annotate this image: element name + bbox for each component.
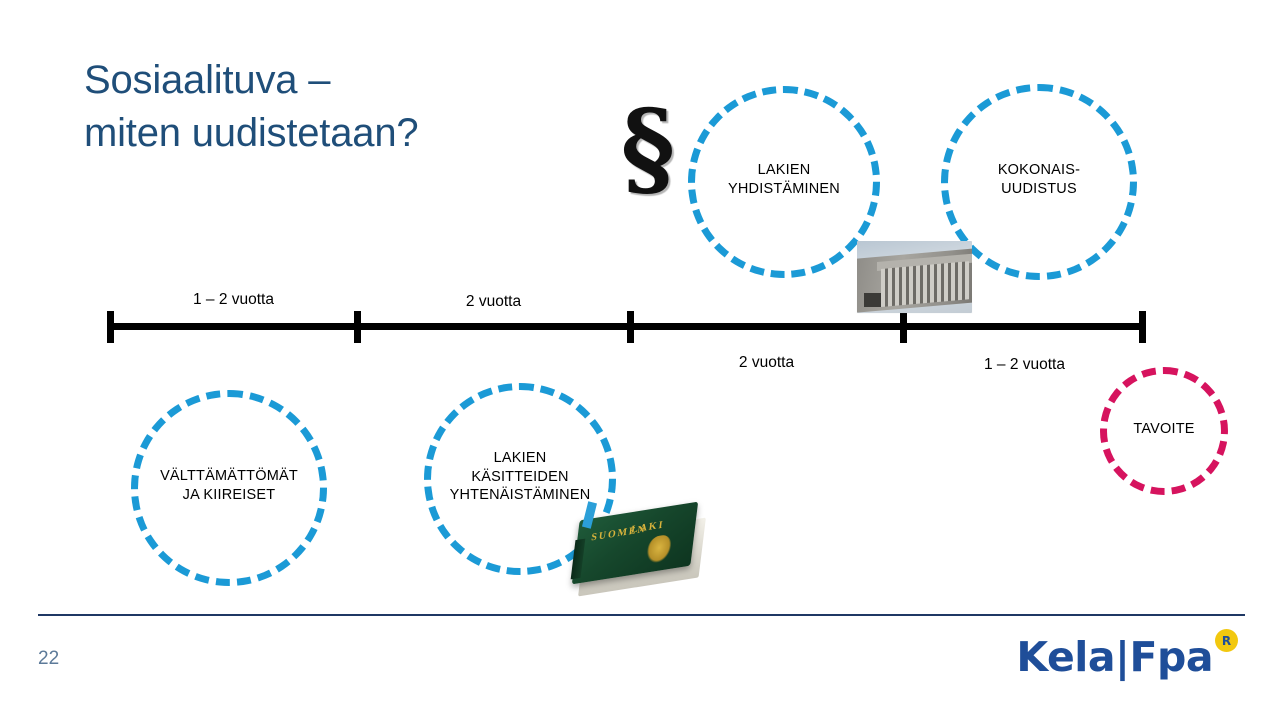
- page-number: 22: [38, 648, 59, 670]
- circle-label-tavoite: TAVOITE: [1133, 420, 1194, 439]
- circle-label-lakien-yhdistaminen: LAKIEN YHDISTÄMINEN: [728, 161, 840, 198]
- slide-canvas: Sosiaalituva – miten uudistetaan? § 1 – …: [0, 0, 1280, 720]
- parliament-building-image: [857, 241, 972, 313]
- timeline-segment-label-1: 1 – 2 vuotta: [110, 291, 357, 309]
- paragraph-section-icon: §: [608, 96, 688, 206]
- circle-label-lakien-kasitteiden-yhtenaistaminen: LAKIEN KÄSITTEIDEN YHTENÄISTÄMINEN: [450, 449, 591, 505]
- footer-divider: [38, 614, 1245, 616]
- timeline-segment-label-3: 2 vuotta: [630, 354, 903, 372]
- timeline-tick-2: [354, 311, 361, 343]
- timeline-tick-5: [1139, 311, 1146, 343]
- timeline-segment-label-2: 2 vuotta: [357, 293, 630, 311]
- logo-badge-mark: R: [1215, 629, 1238, 652]
- circle-tavoite[interactable]: TAVOITE: [1100, 367, 1228, 495]
- timeline-segment-label-4: 1 – 2 vuotta: [903, 356, 1146, 374]
- circle-valttamattomat-ja-kiireiset[interactable]: VÄLTTÄMÄTTÖMÄT JA KIIREISET: [131, 390, 327, 586]
- circle-lakien-yhdistaminen[interactable]: LAKIEN YHDISTÄMINEN: [688, 86, 880, 278]
- timeline-tick-3: [627, 311, 634, 343]
- circle-label-kokonaisuudistus: KOKONAIS- UUDISTUS: [998, 161, 1080, 198]
- circle-label-valttamattomat-ja-kiireiset: VÄLTTÄMÄTTÖMÄT JA KIIREISET: [160, 467, 298, 504]
- building-door: [864, 293, 881, 307]
- timeline-tick-1: [107, 311, 114, 343]
- kela-fpa-logo: Kela|Fpa R: [1016, 637, 1238, 678]
- building-colonnade: [881, 261, 969, 307]
- law-book-image: SUOMEN LAKI: [565, 500, 713, 598]
- logo-registered-badge-icon: R: [1215, 629, 1238, 652]
- logo-wordmark: Kela|Fpa: [1016, 637, 1213, 678]
- timeline-tick-4: [900, 311, 907, 343]
